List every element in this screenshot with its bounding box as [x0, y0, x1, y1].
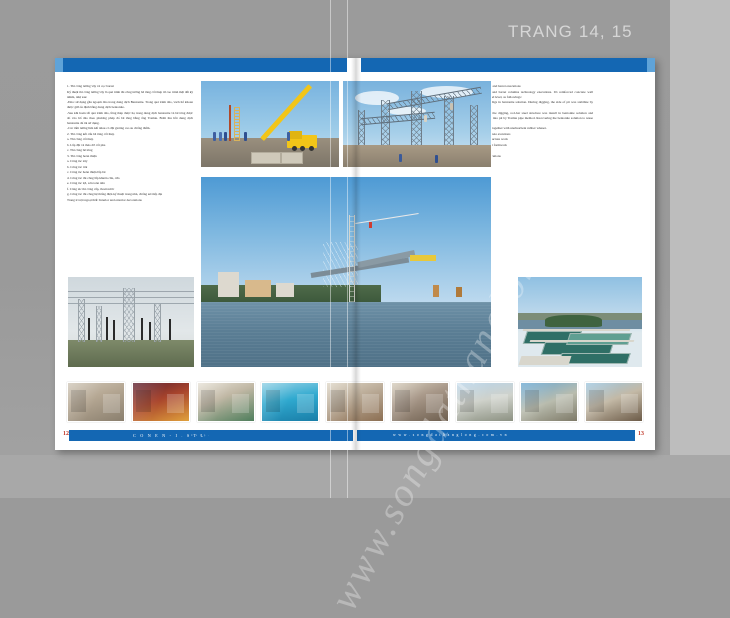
photo-pylon	[358, 110, 365, 144]
thumbnail-guest-room[interactable]	[326, 382, 384, 422]
top-bar-right	[361, 58, 647, 72]
photo-crane-cab	[289, 131, 301, 139]
top-bar-tab-left	[55, 58, 63, 72]
photo-insulator	[169, 319, 171, 340]
page-number-left: 12	[63, 431, 69, 437]
photo-lattice-tower	[96, 306, 102, 342]
backdrop-bottom-panel	[0, 455, 730, 498]
photo-lattice-tower	[78, 299, 85, 342]
left-text-line: Kỹ thuật thi công tường vây là quá trình…	[67, 90, 193, 100]
photo-trees	[545, 315, 602, 328]
photo-basin	[566, 333, 632, 345]
photo-crane-counterweight	[369, 222, 372, 228]
left-text-line: a. Công tác xây	[67, 159, 193, 164]
backdrop-right-panel	[670, 0, 730, 498]
photo-worker	[399, 154, 402, 162]
photo-mast	[229, 105, 231, 141]
photo-worker	[287, 132, 290, 141]
top-bar-left	[63, 58, 347, 72]
left-text-line: c. Công tác hoàn thiện lắp lát	[67, 170, 193, 175]
left-text-line: g. Công tác thi công hệ thống điện kỹ th…	[67, 192, 193, 197]
page-number-right: 13	[638, 431, 644, 437]
left-text-line: 2. Thi công kết cấu bê tông cốt thép	[67, 132, 193, 137]
photo-insulator	[141, 318, 143, 341]
photo-worker	[450, 103, 453, 110]
photo-crane-wheel	[292, 146, 297, 151]
photo-building	[218, 272, 238, 297]
left-text-line: 3. Thi công hoàn thiện	[67, 154, 193, 159]
photo-walkway	[519, 356, 572, 365]
photo-form-traveler	[410, 255, 436, 261]
screenshot-canvas: TRANG 14, 15 1. Thi công tường vây và cọ…	[0, 0, 730, 498]
photo-ground	[343, 145, 491, 167]
top-bar-group	[55, 58, 655, 72]
website-url[interactable]: w w w . s o n g d a t h a n g l o n g . …	[393, 433, 507, 437]
thumbnail-spa-interior[interactable]	[67, 382, 125, 422]
page-title: TRANG 14, 15	[508, 22, 633, 42]
photo-walkway	[523, 329, 630, 331]
left-text-line: -Các tấm tường liên kết nhau có đặt gioă…	[67, 126, 193, 131]
photo-worker	[219, 132, 222, 141]
thumbnail-lounge-view[interactable]	[585, 382, 643, 422]
thumbnail-banquet-hall[interactable]	[132, 382, 190, 422]
left-text-line: d. Công tác thi công lắp khuôn cửa, cửa	[67, 176, 193, 181]
steel-structure-photo	[342, 80, 492, 168]
photo-concrete-slab	[251, 152, 281, 164]
left-text-line: -Sau khi hoàn tất quá trình đào, lồng th…	[67, 111, 193, 126]
left-text-line: a. Thi công cốt thép	[67, 137, 193, 142]
photo-worker	[244, 132, 247, 141]
photo-worker	[435, 155, 438, 163]
magazine-spread: 1. Thi công tường vây và cọc barret Kỹ t…	[55, 58, 655, 450]
cable-stayed-bridge-photo	[200, 176, 492, 368]
water-treatment-plant-photo	[517, 276, 643, 368]
photo-insulator	[106, 317, 108, 340]
photo-ladder	[234, 107, 240, 141]
photo-lattice-tower	[154, 304, 161, 342]
photo-building	[276, 283, 293, 296]
photo-walkway	[530, 340, 635, 342]
photo-ground	[68, 340, 194, 367]
photo-worker	[224, 132, 227, 141]
photo-insulator	[113, 320, 115, 340]
photo-insulator	[88, 318, 90, 340]
brand-suffix: C o r p .	[191, 434, 210, 437]
top-bar-tab-right	[647, 58, 655, 72]
photo-bridge-pylon	[349, 215, 355, 302]
photo-building	[245, 280, 271, 297]
left-text-line: Trang trí nội ngoại thất: Interior and e…	[67, 198, 193, 203]
photo-pylon	[470, 105, 478, 145]
thumbnail-lobby[interactable]	[391, 382, 449, 422]
left-text-line: f. Công tác thi công cấp, thoát nước	[67, 187, 193, 192]
footer-bar-left	[69, 430, 353, 441]
photo-worker	[424, 115, 427, 122]
photo-concrete-slab	[281, 152, 303, 164]
photo-far-structure	[433, 285, 439, 296]
electrical-substation-photo	[67, 276, 195, 368]
photo-far-structure	[456, 287, 462, 297]
photo-crane-wheel	[309, 146, 314, 151]
thumbnail-villa-street[interactable]	[456, 382, 514, 422]
left-text-line: -Đào: sử dụng gầu ngoạm đào trong dung d…	[67, 100, 193, 110]
thumbnail-pool-terrace[interactable]	[520, 382, 578, 422]
left-text-line: b. Công tác trát	[67, 165, 193, 170]
left-text-line: 1. Thi công tường vây và cọc barret	[67, 84, 193, 89]
thumbnail-infinity-pool[interactable]	[261, 382, 319, 422]
crane-pile-driving-photo	[200, 80, 340, 168]
photo-insulator	[149, 322, 151, 340]
thumbnail-strip	[67, 380, 643, 424]
left-text-line: e. Công tác lợi, sơn toàn nhà	[67, 181, 193, 186]
left-page-text-column: 1. Thi công tường vây và cọc barret Kỹ t…	[67, 84, 193, 203]
photo-worker	[213, 132, 216, 141]
footer: 12 13 C O N E N - I . S T L C o r p . w …	[63, 430, 647, 441]
left-text-line: b. Lắp đặt và tháo dỡ cốt pha	[67, 143, 193, 148]
photo-lattice-tower	[123, 288, 135, 342]
photo-water	[201, 302, 491, 367]
left-text-line: c. Thi công bê tông	[67, 148, 193, 153]
thumbnail-restaurant[interactable]	[197, 382, 255, 422]
